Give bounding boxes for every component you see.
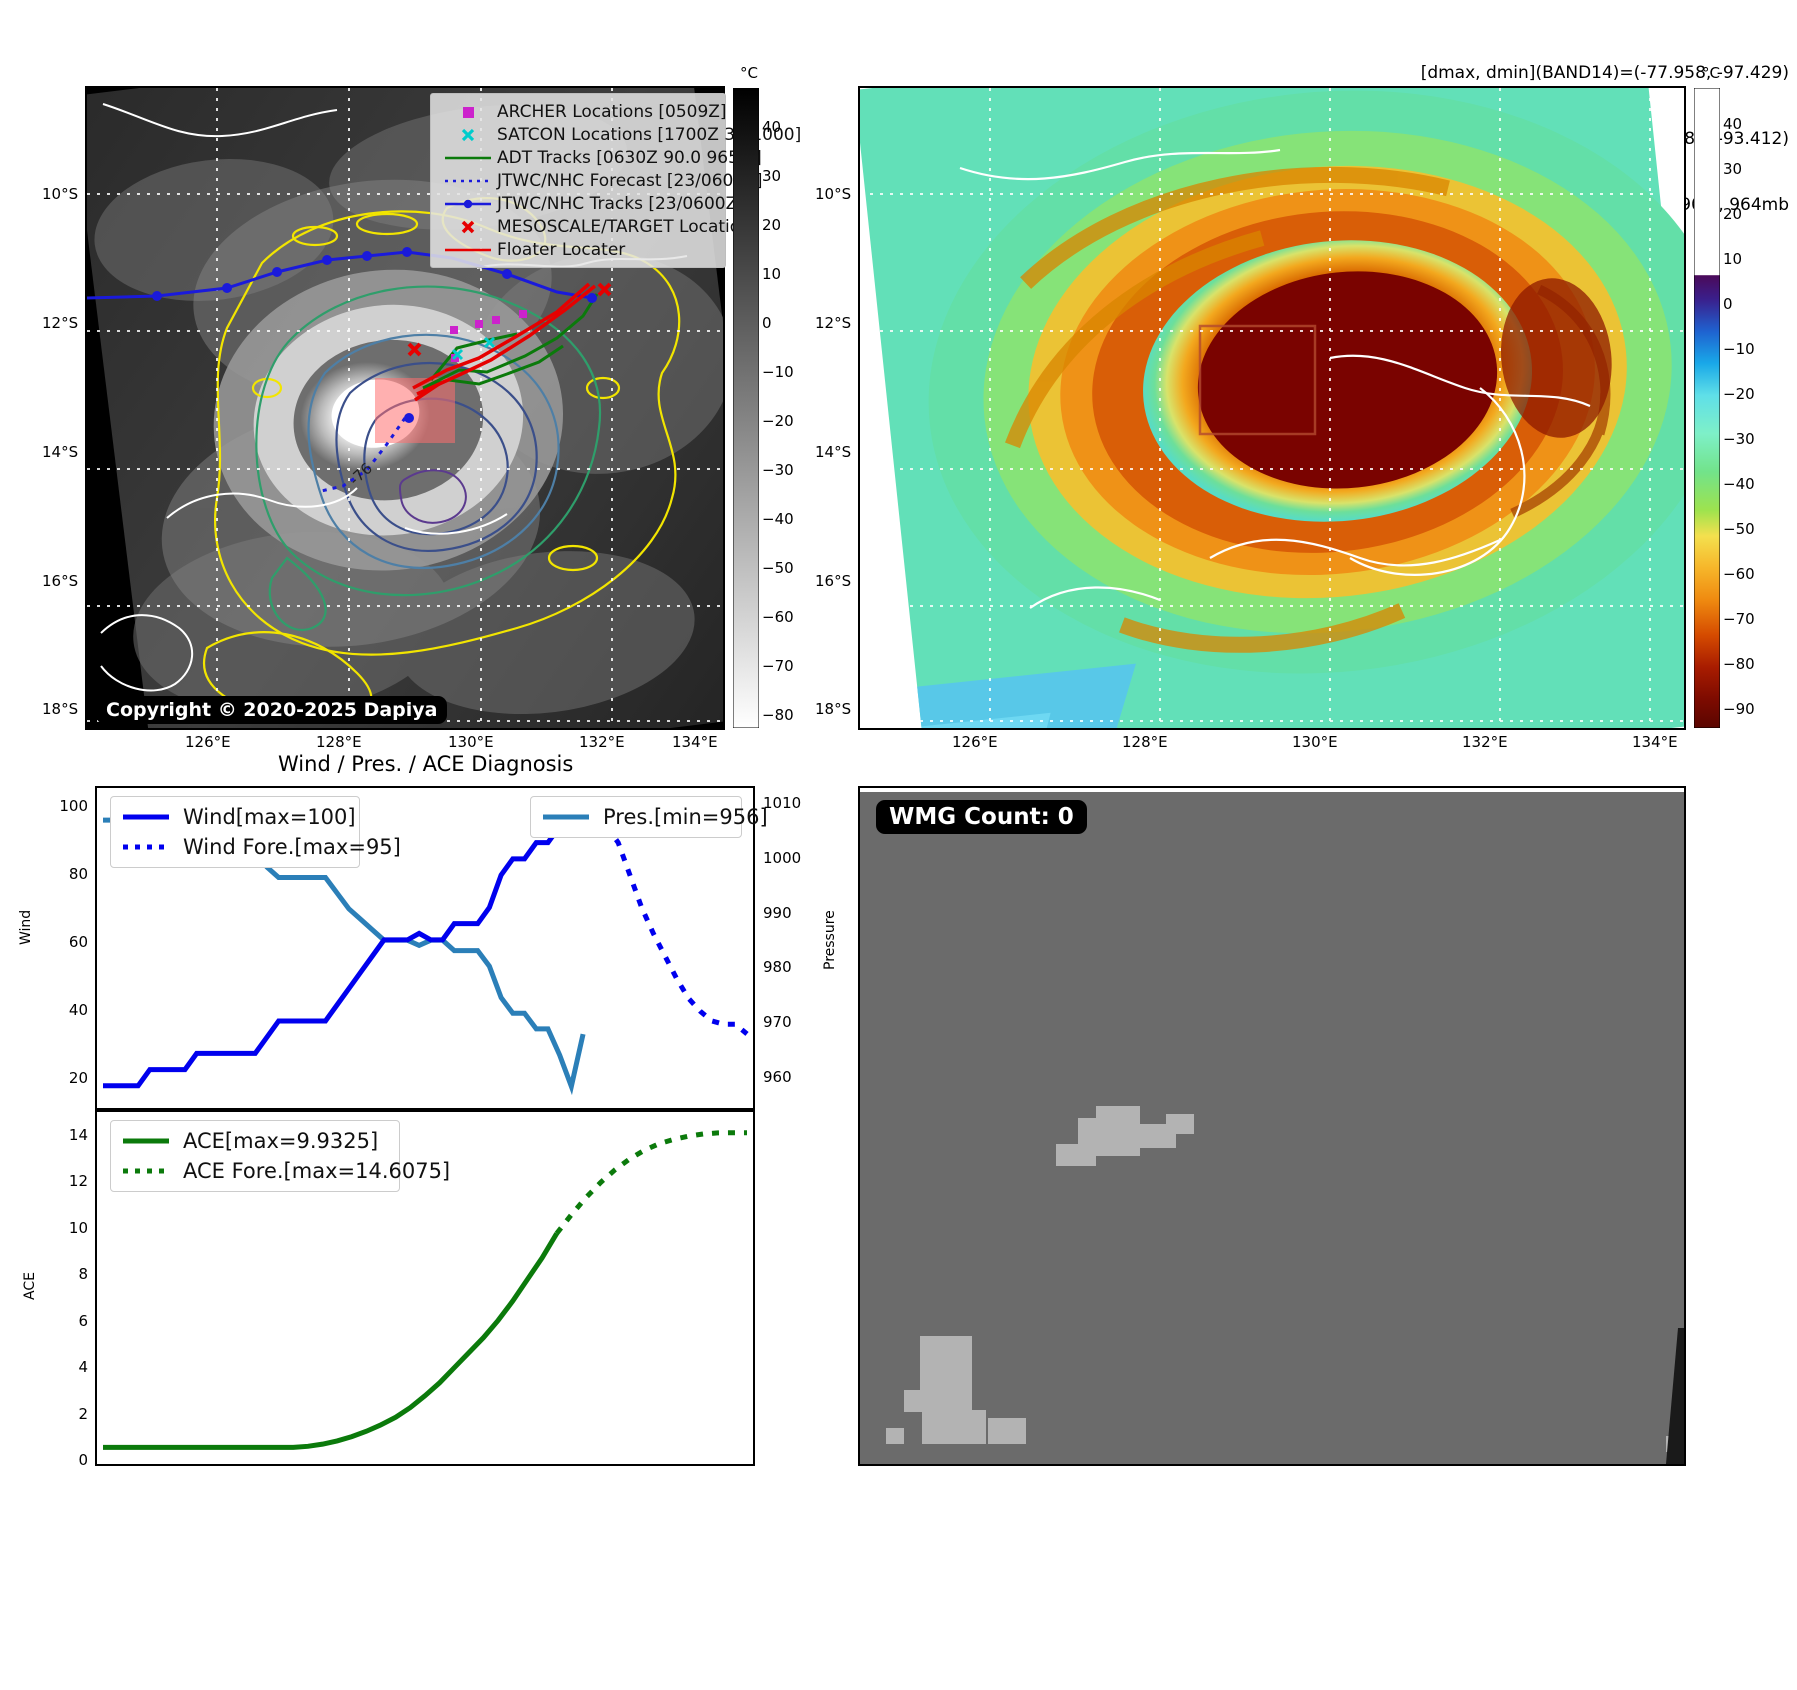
legend-label: Pres.[min=956] <box>603 805 768 829</box>
legend-item: ACE[max=9.9325] <box>121 1126 389 1156</box>
dotted-line-sample-icon <box>439 175 497 187</box>
left-xtick: 126°E <box>185 733 231 751</box>
header-info-band14: [dmax, dmin](BAND14)=(-77.958, -97.429) <box>1421 62 1789 84</box>
wmg-panel[interactable] <box>858 786 1686 1466</box>
ace-ytick: 12 <box>69 1172 88 1190</box>
ace-ytick: 6 <box>78 1312 88 1330</box>
wind-axis-label: Wind <box>18 910 34 945</box>
band14-legend: ARCHER Locations [0509Z] SATCON Location… <box>430 93 726 268</box>
left-ytick: 14°S <box>42 443 78 461</box>
right-ytick: 18°S <box>815 700 851 718</box>
legend-label: ADT Tracks [0630Z 90.0 965.9] <box>497 148 762 168</box>
right-xtick: 132°E <box>1462 733 1508 751</box>
dotted-line-icon <box>121 841 183 853</box>
left-xtick: 134°E <box>672 733 718 751</box>
legend-label: JTWC/NHC Tracks [23/0600Z] <box>497 194 744 214</box>
right-colorbar-ticks: 40 30 20 10 0 −10 −20 −30 −40 −50 −60 −7… <box>1723 88 1783 728</box>
solid-line-icon <box>541 811 603 823</box>
right-colorbar <box>1694 88 1720 728</box>
ace-ytick: 14 <box>69 1126 88 1144</box>
pressure-ytick: 980 <box>763 958 792 976</box>
pressure-ytick: 960 <box>763 1068 792 1086</box>
right-colorbar-title: °C <box>1702 64 1720 82</box>
x-marker-icon <box>439 126 497 144</box>
left-colorbar <box>733 88 759 728</box>
right-ytick: 12°S <box>815 314 851 332</box>
legend-item: Wind Fore.[max=95] <box>121 832 349 862</box>
wind-ytick: 80 <box>69 865 88 883</box>
wmg-count-badge: WMG Count: 0 <box>876 800 1087 834</box>
left-colorbar-ticks: 40 30 20 10 0 −10 −20 −30 −40 −50 −60 −7… <box>762 88 810 728</box>
ace-legend: ACE[max=9.9325] ACE Fore.[max=14.6075] <box>110 1120 400 1192</box>
left-ytick: 12°S <box>42 314 78 332</box>
line-sample-icon <box>439 152 497 164</box>
right-ytick: 10°S <box>815 185 851 203</box>
left-ytick: 16°S <box>42 572 78 590</box>
right-ytick: 14°S <box>815 443 851 461</box>
pressure-ytick: 1000 <box>763 849 801 867</box>
legend-label: Wind[max=100] <box>183 805 356 829</box>
copyright-badge: Copyright © 2020-2025 Dapiya <box>96 696 447 724</box>
left-ytick: 10°S <box>42 185 78 203</box>
x-marker-icon <box>439 218 497 236</box>
legend-label: Wind Fore.[max=95] <box>183 835 401 859</box>
legend-item: Wind[max=100] <box>121 802 349 832</box>
legend-item: Floater Locater <box>439 238 717 261</box>
wind-legend: Wind[max=100] Wind Fore.[max=95] <box>110 796 360 868</box>
wind-ytick: 100 <box>59 797 88 815</box>
legend-item: ARCHER Locations [0509Z] <box>439 100 717 123</box>
left-colorbar-title: °C <box>740 64 758 82</box>
pressure-legend: Pres.[min=956] <box>530 796 742 838</box>
dotted-line-icon <box>121 1165 183 1177</box>
pressure-axis-label: Pressure <box>822 910 838 970</box>
legend-item: SATCON Locations [1700Z 38 1000] <box>439 123 717 146</box>
legend-item: Pres.[min=956] <box>541 802 731 832</box>
pressure-ytick: 990 <box>763 904 792 922</box>
right-xtick: 126°E <box>952 733 998 751</box>
right-ytick: 16°S <box>815 572 851 590</box>
wind-ytick: 20 <box>69 1069 88 1087</box>
ace-ytick-labels: 14 12 10 8 6 4 2 0 <box>36 1110 88 1466</box>
legend-label: MESOSCALE/TARGET Location <box>497 217 751 237</box>
diagnosis-title: Wind / Pres. / ACE Diagnosis <box>278 752 573 776</box>
square-marker-icon <box>439 104 497 120</box>
right-xtick: 130°E <box>1292 733 1338 751</box>
left-xtick: 132°E <box>579 733 625 751</box>
pressure-ytick: 1010 <box>763 794 801 812</box>
legend-item: JTWC/NHC Tracks [23/0600Z] <box>439 192 717 215</box>
pressure-ytick-labels: 1010 1000 990 980 970 960 <box>763 786 815 1110</box>
ace-ytick: 2 <box>78 1405 88 1423</box>
ace-ytick: 8 <box>78 1265 88 1283</box>
left-ytick: 18°S <box>42 700 78 718</box>
awv-image-panel[interactable] <box>858 86 1686 730</box>
line-with-marker-icon <box>439 198 497 210</box>
ace-ytick: 4 <box>78 1358 88 1376</box>
legend-item: ACE Fore.[max=14.6075] <box>121 1156 389 1186</box>
right-xtick: 128°E <box>1122 733 1168 751</box>
legend-item: MESOSCALE/TARGET Location <box>439 215 717 238</box>
line-sample-icon <box>439 244 497 256</box>
wind-ytick-labels: 100 80 60 40 20 <box>36 786 88 1110</box>
solid-line-icon <box>121 811 183 823</box>
legend-label: ACE Fore.[max=14.6075] <box>183 1159 450 1183</box>
legend-label: ARCHER Locations [0509Z] <box>497 102 727 122</box>
solid-line-icon <box>121 1135 183 1147</box>
legend-label: ACE[max=9.9325] <box>183 1129 378 1153</box>
ace-ytick: 10 <box>69 1219 88 1237</box>
pressure-ytick: 970 <box>763 1013 792 1031</box>
wind-ytick: 40 <box>69 1001 88 1019</box>
right-xtick: 134°E <box>1632 733 1678 751</box>
legend-label: Floater Locater <box>497 240 625 260</box>
left-xtick: 130°E <box>448 733 494 751</box>
left-xtick: 128°E <box>316 733 362 751</box>
legend-label: JTWC/NHC Forecast [23/0600Z] <box>497 171 762 191</box>
legend-item: ADT Tracks [0630Z 90.0 965.9] <box>439 146 717 169</box>
legend-item: JTWC/NHC Forecast [23/0600Z] <box>439 169 717 192</box>
wind-ytick: 60 <box>69 933 88 951</box>
ace-ytick: 0 <box>78 1451 88 1469</box>
